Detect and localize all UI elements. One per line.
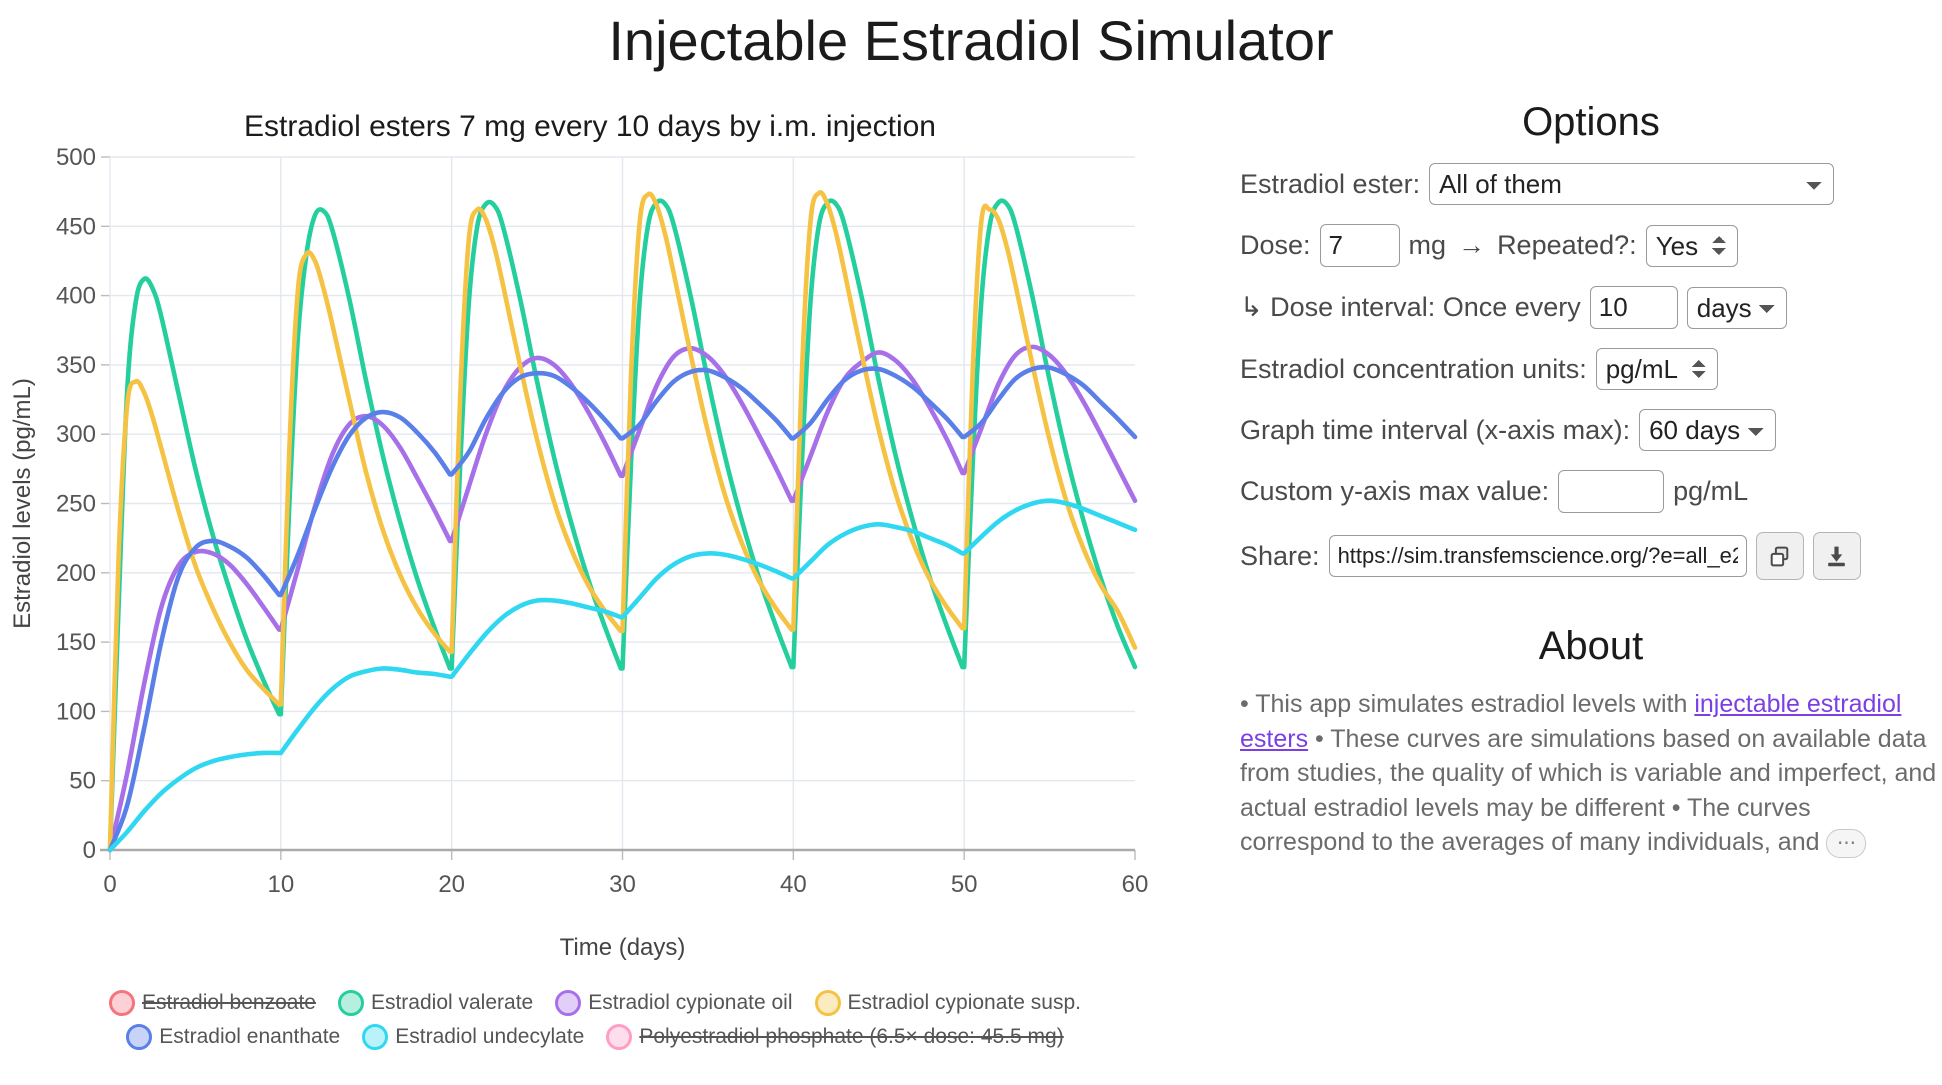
- legend-item-label: Estradiol cypionate oil: [588, 991, 792, 1015]
- legend-marker-icon: [606, 1024, 632, 1050]
- dose-unit: mg: [1409, 230, 1447, 261]
- ester-label: Estradiol ester:: [1240, 169, 1420, 200]
- svg-text:350: 350: [56, 352, 96, 379]
- page-title: Injectable Estradiol Simulator: [0, 8, 1942, 73]
- option-row-time-interval: Graph time interval (x-axis max): 60 day…: [1240, 409, 1942, 451]
- legend-item-label: Estradiol valerate: [371, 991, 533, 1015]
- interval-input[interactable]: [1590, 286, 1678, 329]
- option-row-ester: Estradiol ester: All of them: [1240, 163, 1942, 205]
- interval-unit-select[interactable]: days: [1687, 287, 1787, 329]
- chart-panel: Estradiol esters 7 mg every 10 days by i…: [0, 100, 1180, 1085]
- legend-marker-icon: [109, 990, 135, 1016]
- about-text-part1: • This app simulates estradiol levels wi…: [1240, 690, 1694, 718]
- legend-item[interactable]: Estradiol benzoate: [109, 990, 316, 1016]
- legend-marker-icon: [338, 990, 364, 1016]
- copy-icon[interactable]: [1756, 532, 1804, 580]
- repeated-select[interactable]: Yes: [1646, 225, 1738, 267]
- option-row-dose: Dose: mg → Repeated?: Yes: [1240, 224, 1942, 267]
- chart-canvas: 0501001502002503003504004505000102030405…: [0, 145, 1160, 990]
- x-axis-label: Time (days): [560, 934, 686, 961]
- legend-item-label: Polyestradiol phosphate (6.5× dose: 45.5…: [639, 1025, 1063, 1049]
- share-url-input[interactable]: [1329, 535, 1747, 577]
- svg-text:300: 300: [56, 421, 96, 448]
- dose-label: Dose:: [1240, 230, 1311, 261]
- svg-text:100: 100: [56, 698, 96, 725]
- chart-title: Estradiol esters 7 mg every 10 days by i…: [60, 110, 1120, 144]
- ymax-unit: pg/mL: [1673, 476, 1748, 507]
- svg-text:60: 60: [1122, 871, 1149, 898]
- legend-item[interactable]: Estradiol cypionate susp.: [815, 990, 1081, 1016]
- interval-label: ↳ Dose interval: Once every: [1240, 292, 1581, 323]
- legend-item-label: Estradiol enanthate: [159, 1025, 340, 1049]
- repeated-label: Repeated?:: [1497, 230, 1637, 261]
- svg-text:150: 150: [56, 629, 96, 656]
- units-select[interactable]: pg/mL: [1596, 348, 1718, 390]
- svg-text:400: 400: [56, 283, 96, 310]
- legend-item[interactable]: Estradiol undecylate: [362, 1024, 584, 1050]
- option-row-share: Share:: [1240, 532, 1942, 580]
- svg-text:10: 10: [267, 871, 294, 898]
- svg-text:200: 200: [56, 560, 96, 587]
- dose-input[interactable]: [1320, 224, 1400, 267]
- svg-text:20: 20: [438, 871, 465, 898]
- units-label: Estradiol concentration units:: [1240, 354, 1587, 385]
- legend-row: Estradiol enanthateEstradiol undecylateP…: [60, 1024, 1130, 1050]
- legend-row: Estradiol benzoateEstradiol valerateEstr…: [60, 990, 1130, 1016]
- about-heading: About: [1240, 624, 1942, 669]
- show-more-icon[interactable]: ⋯: [1826, 829, 1866, 858]
- y-axis-label: Estradiol levels (pg/mL): [9, 378, 36, 629]
- ymax-input[interactable]: [1558, 470, 1664, 513]
- about-paragraph: • This app simulates estradiol levels wi…: [1240, 687, 1942, 860]
- estradiol-line-chart: 0501001502002503003504004505000102030405…: [0, 145, 1160, 985]
- svg-text:50: 50: [951, 871, 978, 898]
- option-row-units: Estradiol concentration units: pg/mL: [1240, 348, 1942, 390]
- option-row-interval: ↳ Dose interval: Once every days: [1240, 286, 1942, 329]
- svg-text:50: 50: [69, 768, 96, 795]
- svg-text:0: 0: [103, 871, 116, 898]
- app-root: Injectable Estradiol Simulator Estradiol…: [0, 0, 1942, 1085]
- ymax-label: Custom y-axis max value:: [1240, 476, 1549, 507]
- legend-item[interactable]: Estradiol cypionate oil: [555, 990, 792, 1016]
- svg-text:30: 30: [609, 871, 636, 898]
- legend-marker-icon: [126, 1024, 152, 1050]
- ester-select[interactable]: All of them: [1429, 163, 1834, 205]
- svg-text:450: 450: [56, 213, 96, 240]
- time-interval-label: Graph time interval (x-axis max):: [1240, 415, 1630, 446]
- legend-item[interactable]: Estradiol valerate: [338, 990, 533, 1016]
- legend-marker-icon: [815, 990, 841, 1016]
- svg-text:40: 40: [780, 871, 807, 898]
- options-heading: Options: [1240, 100, 1942, 145]
- options-panel: Options Estradiol ester: All of them Dos…: [1240, 100, 1942, 860]
- legend-item-label: Estradiol undecylate: [395, 1025, 584, 1049]
- download-icon[interactable]: [1813, 532, 1861, 580]
- legend-marker-icon: [555, 990, 581, 1016]
- legend-item-label: Estradiol cypionate susp.: [848, 991, 1081, 1015]
- svg-text:0: 0: [83, 837, 96, 864]
- legend-item[interactable]: Estradiol enanthate: [126, 1024, 340, 1050]
- time-interval-select[interactable]: 60 days: [1639, 409, 1776, 451]
- legend-item[interactable]: Polyestradiol phosphate (6.5× dose: 45.5…: [606, 1024, 1063, 1050]
- svg-text:250: 250: [56, 491, 96, 518]
- chart-legend: Estradiol benzoateEstradiol valerateEstr…: [60, 990, 1130, 1058]
- arrow-icon: →: [1458, 230, 1485, 261]
- svg-text:500: 500: [56, 145, 96, 171]
- option-row-ymax: Custom y-axis max value: pg/mL: [1240, 470, 1942, 513]
- legend-marker-icon: [362, 1024, 388, 1050]
- share-label: Share:: [1240, 541, 1320, 572]
- legend-item-label: Estradiol benzoate: [142, 991, 316, 1015]
